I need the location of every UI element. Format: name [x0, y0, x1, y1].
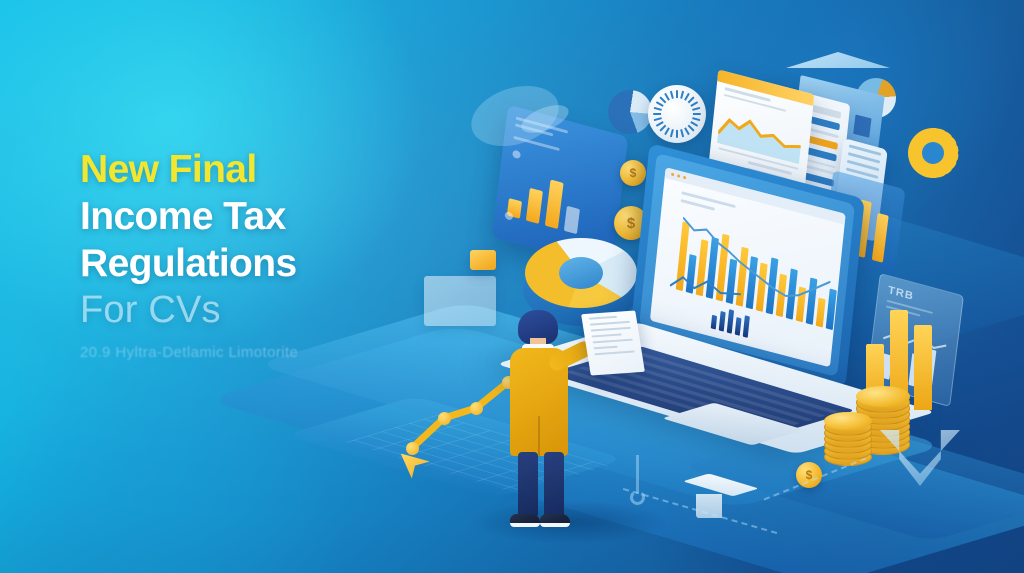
headline-line-4: For CVs	[80, 291, 440, 329]
doc-area-chart	[717, 104, 803, 164]
window-dot	[683, 176, 686, 180]
card-bullet-icon	[512, 150, 521, 160]
person-leg-left	[518, 452, 538, 518]
shoe-sole	[540, 523, 570, 527]
coin-stack-short	[824, 412, 874, 468]
paper-line	[591, 327, 631, 332]
tag-label	[470, 250, 496, 270]
person-shoe-right	[540, 514, 570, 527]
trend-node	[470, 402, 483, 415]
chart-bar	[526, 188, 543, 224]
paper-line	[590, 321, 630, 326]
chart-bar	[727, 309, 734, 334]
laptop-trend-line	[676, 210, 834, 329]
window-dot	[671, 173, 674, 177]
person-coat-split	[538, 416, 540, 456]
bank-window	[853, 115, 871, 138]
paper-line	[589, 316, 617, 320]
chart-bar	[743, 315, 750, 338]
chart-bar	[711, 315, 717, 330]
tag-label	[424, 276, 496, 326]
paper-line	[594, 350, 634, 355]
pie-chart-small-icon	[608, 90, 652, 134]
paper-line	[593, 346, 617, 350]
chart-bar	[719, 311, 726, 332]
paper-line	[593, 339, 633, 344]
hook-line	[636, 455, 639, 493]
trend-node	[406, 442, 419, 455]
coin-stack-top	[856, 386, 910, 407]
shoe-sole	[510, 523, 540, 527]
clock-icon	[648, 85, 706, 143]
headline-subtitle: 20.9 Hyltra-Detlamic Limotorite	[80, 344, 440, 361]
paper-line	[592, 333, 622, 337]
person-shoe-left	[510, 514, 540, 527]
trend-node	[438, 412, 451, 425]
headline-line-3: Regulations	[80, 244, 440, 283]
person-leg-right	[544, 452, 564, 518]
headline-block: New Final Income Tax Regulations For CVs…	[80, 150, 440, 361]
held-document	[581, 310, 645, 375]
clock-center	[661, 98, 693, 130]
headline-line-2: Income Tax	[80, 197, 440, 236]
illustration-canvas: New Final Income Tax Regulations For CVs…	[0, 0, 1024, 573]
laptop-bar-chart-secondary	[711, 303, 751, 338]
chart-bar	[735, 317, 742, 336]
gear-icon	[908, 128, 958, 178]
person-figure	[494, 310, 590, 538]
window-dot	[677, 174, 680, 178]
headline-line-1: New Final	[80, 150, 440, 189]
chart-bar	[914, 325, 932, 410]
gear-hole	[922, 142, 944, 164]
